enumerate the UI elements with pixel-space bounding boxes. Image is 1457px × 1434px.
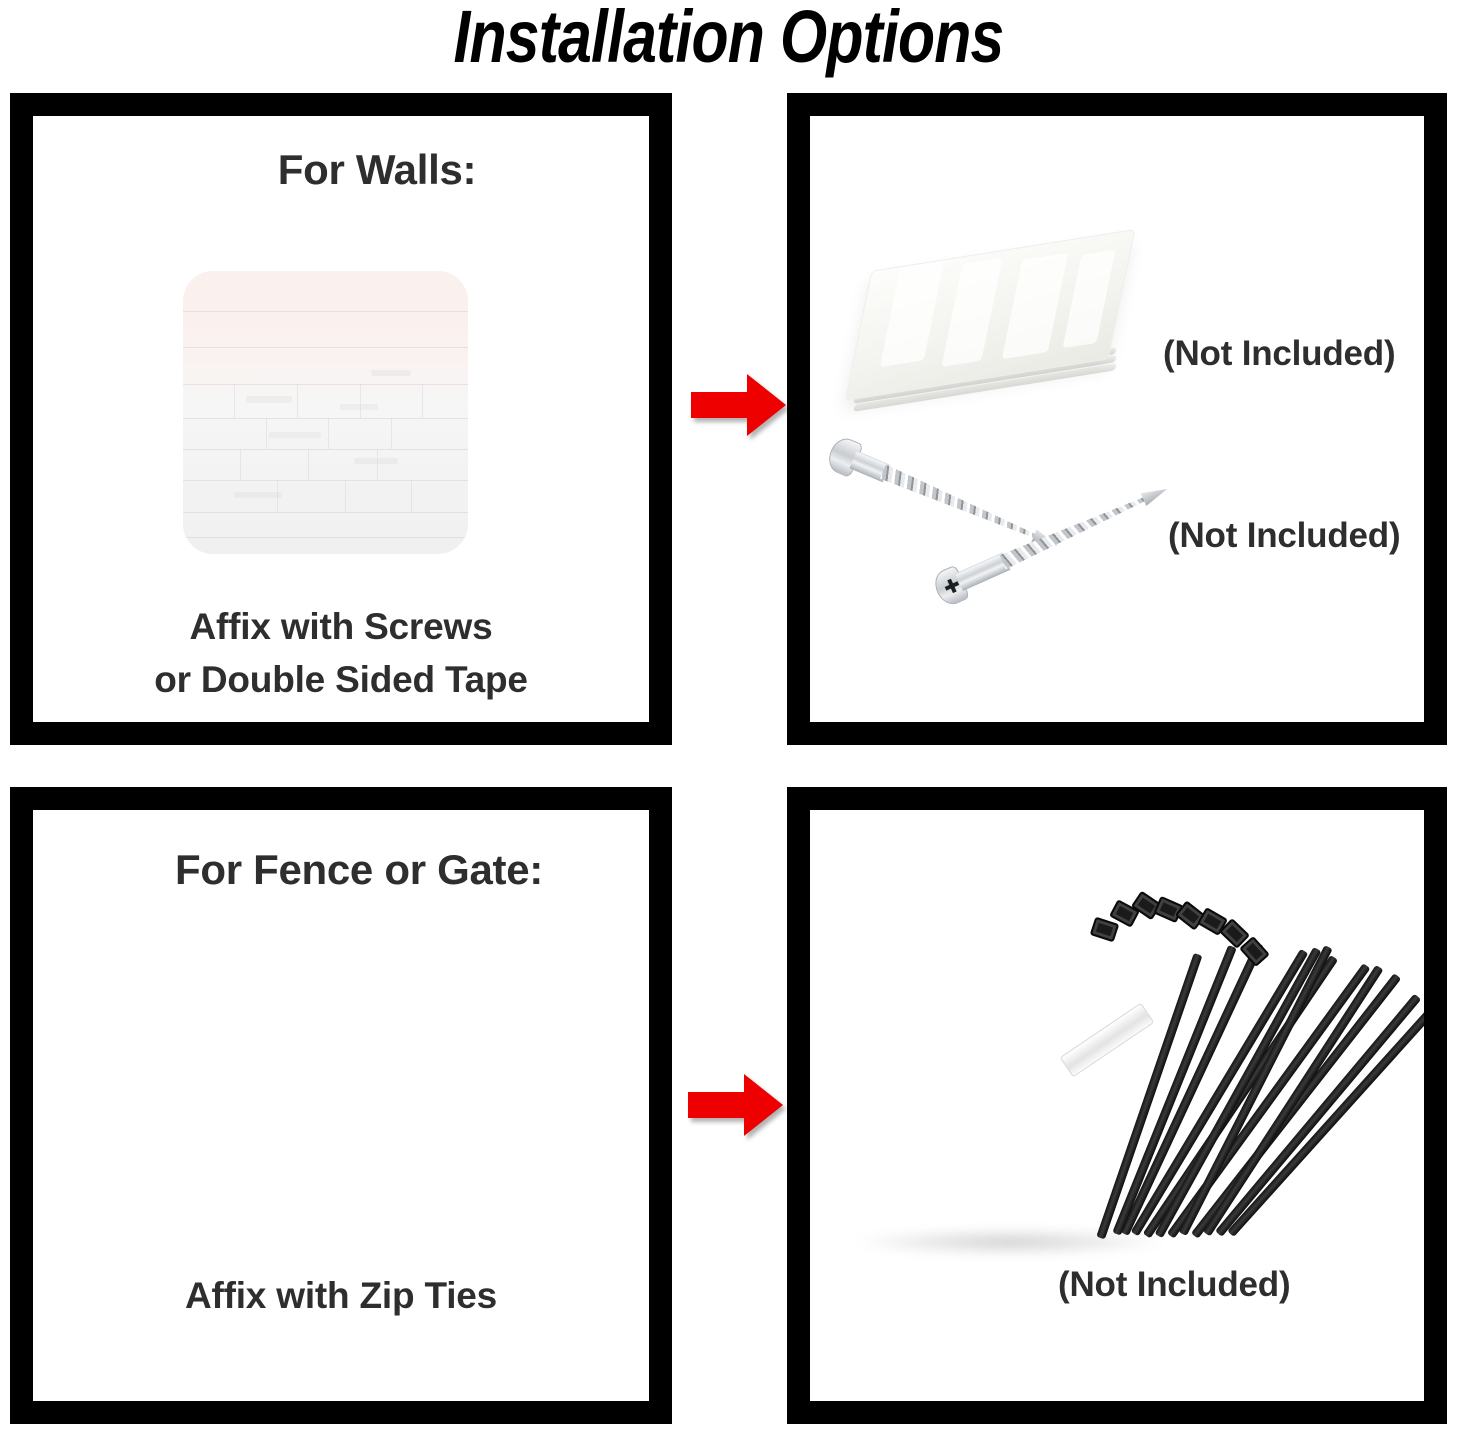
tape-not-included-label: (Not Included) (1163, 334, 1395, 374)
red-arrow-right-icon (691, 372, 787, 438)
walls-heading: For Walls: (33, 146, 649, 194)
brick-wall-photo (183, 271, 468, 554)
walls-caption-line1: Affix with Screws (33, 601, 649, 654)
double-sided-tape-stack (848, 234, 1148, 419)
panel-fence-hardware-inner: (Not Included) (810, 810, 1424, 1401)
installation-options-infographic: Installation Options For Walls: (0, 0, 1457, 1434)
red-arrow-right-icon (688, 1072, 784, 1138)
panel-wall-hardware: (Not Included) (787, 93, 1447, 745)
panel-wall-hardware-inner: (Not Included) (810, 116, 1424, 722)
walls-caption-line2: or Double Sided Tape (33, 654, 649, 707)
panel-fence-hardware: (Not Included) (787, 787, 1447, 1424)
ziptie-not-included-label: (Not Included) (1058, 1265, 1290, 1305)
fence-caption-line1: Affix with Zip Ties (33, 1270, 649, 1323)
panel-for-fence-inner: For Fence or Gate: (33, 810, 649, 1401)
screw-not-included-label: (Not Included) (1168, 516, 1400, 556)
panel-for-fence-or-gate: For Fence or Gate: (10, 787, 672, 1424)
zip-tie-head (1090, 917, 1120, 943)
brick-texture (183, 271, 468, 554)
page-title: Installation Options (131, 0, 1326, 77)
fence-caption: Affix with Zip Ties (33, 1270, 649, 1323)
walls-caption: Affix with Screws or Double Sided Tape (33, 601, 649, 706)
zip-tie-bundle (830, 898, 1350, 1298)
panel-for-walls-inner: For Walls: (33, 116, 649, 722)
wood-screws-group (824, 426, 1204, 626)
panel-for-walls: For Walls: (10, 93, 672, 745)
fence-heading: For Fence or Gate: (33, 846, 649, 894)
zip-tie-binding-band (1060, 1003, 1155, 1078)
